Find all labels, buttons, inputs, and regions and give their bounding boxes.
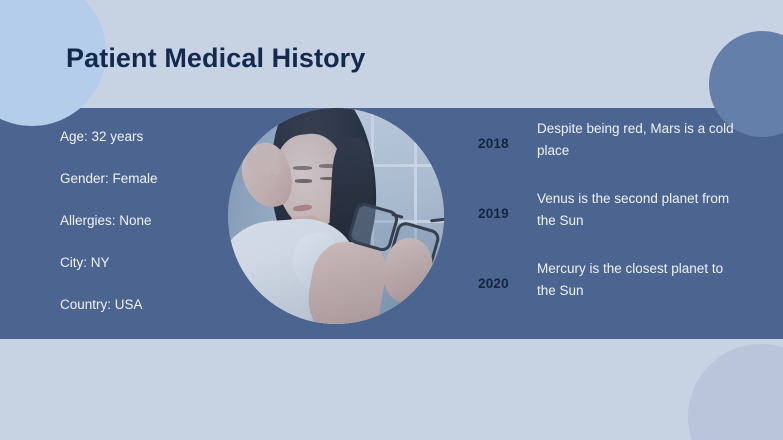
timeline-item-2019: 2019 Venus is the second planet from the… (478, 188, 738, 258)
detail-row-allergies: Allergies: None (60, 210, 235, 252)
timeline-list: 2018 Despite being red, Mars is a cold p… (478, 118, 738, 328)
detail-row-gender: Gender: Female (60, 168, 235, 210)
timeline-year-2018: 2018 (478, 136, 530, 151)
page-title: Patient Medical History (66, 43, 365, 74)
timeline-text-2020: Mercury is the closest planet to the Sun (537, 258, 737, 302)
timeline-item-2018: 2018 Despite being red, Mars is a cold p… (478, 118, 738, 188)
detail-row-age: Age: 32 years (60, 126, 235, 168)
timeline-item-2020: 2020 Mercury is the closest planet to th… (478, 258, 738, 328)
detail-row-city: City: NY (60, 252, 235, 294)
footer-band (0, 339, 783, 440)
patient-photo (228, 108, 444, 324)
patient-details-list: Age: 32 years Gender: Female Allergies: … (60, 126, 235, 336)
timeline-text-2018: Despite being red, Mars is a cold place (537, 118, 737, 162)
timeline-year-2020: 2020 (478, 276, 530, 291)
detail-row-country: Country: USA (60, 294, 235, 336)
timeline-year-2019: 2019 (478, 206, 530, 221)
patient-photo-illustration (228, 108, 444, 324)
timeline-text-2019: Venus is the second planet from the Sun (537, 188, 737, 232)
slide-canvas: Patient Medical History Age: 32 years Ge… (0, 0, 783, 440)
